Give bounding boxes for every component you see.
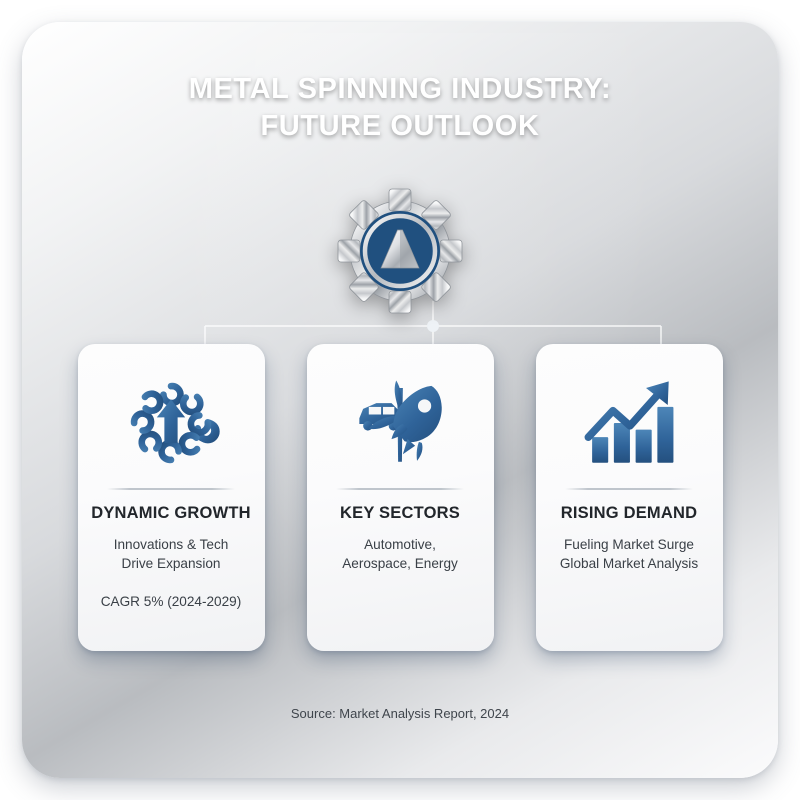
card-divider	[336, 488, 464, 490]
gradient-panel: METAL SPINNING INDUSTRY: FUTURE OUTLOOK	[33, 33, 767, 767]
title-line-2: FUTURE OUTLOOK	[33, 108, 767, 145]
card-body-line-2: Global Market Analysis	[560, 554, 698, 573]
cards-row: DYNAMIC GROWTH Innovations & Tech Drive …	[33, 344, 767, 651]
circular-growth-arrow-icon	[119, 364, 223, 482]
connector-hub-dot	[427, 320, 439, 332]
card-body-line-2: Drive Expansion	[114, 554, 229, 573]
gear-icon	[334, 185, 466, 317]
card-divider	[565, 488, 693, 490]
page-title: METAL SPINNING INDUSTRY: FUTURE OUTLOOK	[33, 71, 767, 145]
rising-bar-chart-icon	[577, 364, 681, 482]
source-note: Source: Market Analysis Report, 2024	[33, 706, 767, 721]
card-body-line-1: Automotive,	[342, 535, 458, 554]
card-body: Automotive, Aerospace, Energy	[342, 535, 458, 574]
title-line-1: METAL SPINNING INDUSTRY:	[33, 71, 767, 108]
card-title: KEY SECTORS	[340, 504, 460, 523]
card-dynamic-growth[interactable]: DYNAMIC GROWTH Innovations & Tech Drive …	[78, 344, 265, 651]
card-key-sectors[interactable]: KEY SECTORS Automotive, Aerospace, Energ…	[307, 344, 494, 651]
card-body: Innovations & Tech Drive Expansion	[114, 535, 229, 574]
card-body-line-1: Fueling Market Surge	[560, 535, 698, 554]
card-body: Fueling Market Surge Global Market Analy…	[560, 535, 698, 574]
infographic-stage: METAL SPINNING INDUSTRY: FUTURE OUTLOOK	[0, 0, 800, 800]
card-title: RISING DEMAND	[561, 504, 697, 523]
card-metric: CAGR 5% (2024-2029)	[101, 594, 242, 609]
car-windturbine-rocket-icon	[348, 364, 452, 482]
card-rising-demand[interactable]: RISING DEMAND Fueling Market Surge Globa…	[536, 344, 723, 651]
card-body-line-2: Aerospace, Energy	[342, 554, 458, 573]
card-divider	[107, 488, 235, 490]
card-body-line-1: Innovations & Tech	[114, 535, 229, 554]
card-title: DYNAMIC GROWTH	[91, 504, 251, 523]
outer-frame: METAL SPINNING INDUSTRY: FUTURE OUTLOOK	[22, 22, 778, 778]
